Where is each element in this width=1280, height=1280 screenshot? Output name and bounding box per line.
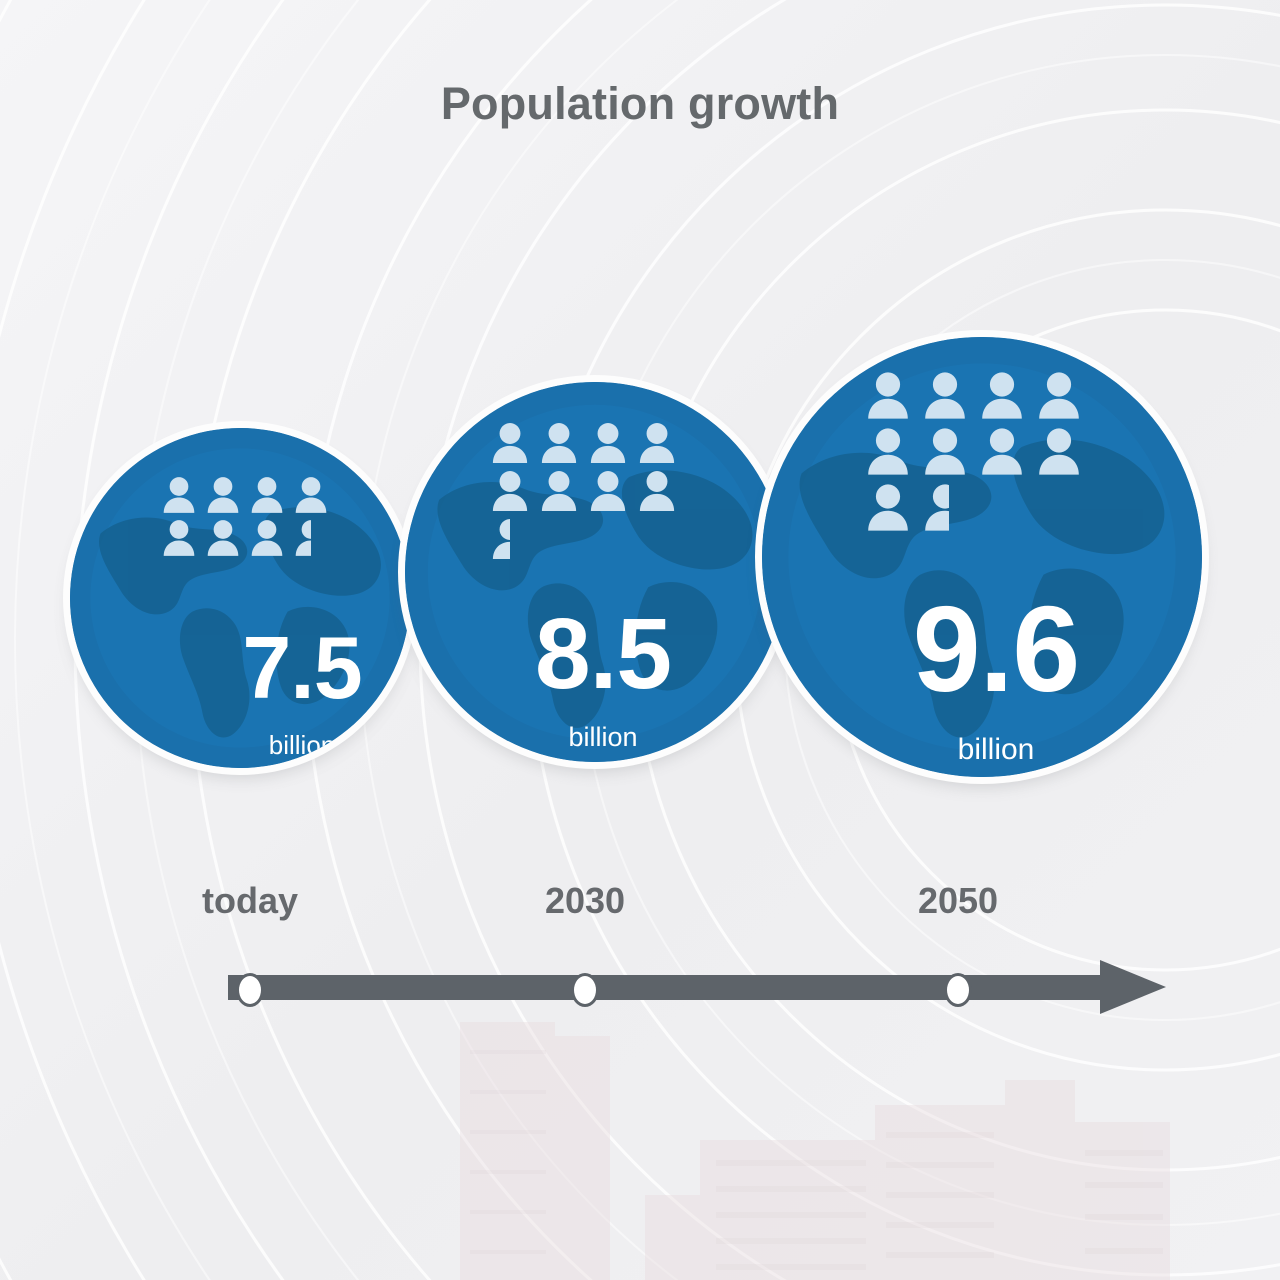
person-icon-row bbox=[866, 483, 1202, 532]
timeline: today 2030 2050 bbox=[0, 880, 1280, 1020]
timeline-marker-today[interactable] bbox=[236, 973, 264, 1007]
person-icon-group bbox=[70, 476, 410, 557]
person-icon bbox=[1037, 371, 1081, 420]
population-circle-2050[interactable]: 9.6 billion bbox=[762, 337, 1202, 777]
person-icon bbox=[980, 371, 1024, 420]
person-icon bbox=[980, 427, 1024, 476]
person-icon-row bbox=[162, 519, 410, 557]
timeline-marker-2050[interactable] bbox=[944, 973, 972, 1007]
person-icon bbox=[206, 519, 240, 557]
person-icon bbox=[866, 427, 910, 476]
person-icon-partial bbox=[491, 518, 510, 560]
city-skyline-background-image bbox=[430, 1010, 1170, 1280]
person-icon-row bbox=[162, 476, 410, 514]
person-icon-row bbox=[866, 427, 1202, 476]
person-icon bbox=[1037, 427, 1081, 476]
value-today: 7.5 bbox=[70, 624, 410, 712]
person-icon-group bbox=[762, 371, 1202, 532]
person-icon bbox=[638, 470, 676, 512]
person-icon bbox=[589, 470, 627, 512]
person-icon bbox=[866, 371, 910, 420]
person-icon-partial bbox=[294, 519, 311, 557]
person-icon bbox=[250, 476, 284, 514]
infographic-canvas: Population growth 7.5 billion bbox=[0, 0, 1280, 1280]
page-title: Population growth bbox=[0, 78, 1280, 130]
person-icon bbox=[589, 422, 627, 464]
unit-today: billion bbox=[70, 730, 410, 761]
population-circle-today[interactable]: 7.5 billion bbox=[70, 428, 410, 768]
person-icon-row bbox=[491, 518, 785, 560]
person-icon-row bbox=[491, 470, 785, 512]
person-icon bbox=[923, 371, 967, 420]
person-icon-group bbox=[405, 422, 785, 560]
person-icon bbox=[162, 476, 196, 514]
timeline-marker-2030[interactable] bbox=[571, 973, 599, 1007]
person-icon-row bbox=[866, 371, 1202, 420]
person-icon bbox=[540, 422, 578, 464]
unit-2030: billion bbox=[405, 722, 785, 753]
value-2030: 8.5 bbox=[405, 604, 785, 704]
unit-2050: billion bbox=[762, 733, 1202, 767]
timeline-label-2050: 2050 bbox=[918, 880, 998, 922]
person-icon-partial bbox=[923, 483, 949, 532]
person-icon bbox=[250, 519, 284, 557]
value-2050: 9.6 bbox=[762, 588, 1202, 710]
person-icon bbox=[206, 476, 240, 514]
person-icon bbox=[162, 519, 196, 557]
timeline-label-today: today bbox=[202, 880, 298, 922]
timeline-label-2030: 2030 bbox=[545, 880, 625, 922]
person-icon bbox=[294, 476, 328, 514]
person-icon bbox=[866, 483, 910, 532]
person-icon bbox=[540, 470, 578, 512]
person-icon bbox=[491, 470, 529, 512]
population-circle-2030[interactable]: 8.5 billion bbox=[405, 382, 785, 762]
person-icon-row bbox=[491, 422, 785, 464]
arrow-right-icon bbox=[1100, 960, 1166, 1014]
person-icon bbox=[923, 427, 967, 476]
person-icon bbox=[638, 422, 676, 464]
person-icon bbox=[491, 422, 529, 464]
